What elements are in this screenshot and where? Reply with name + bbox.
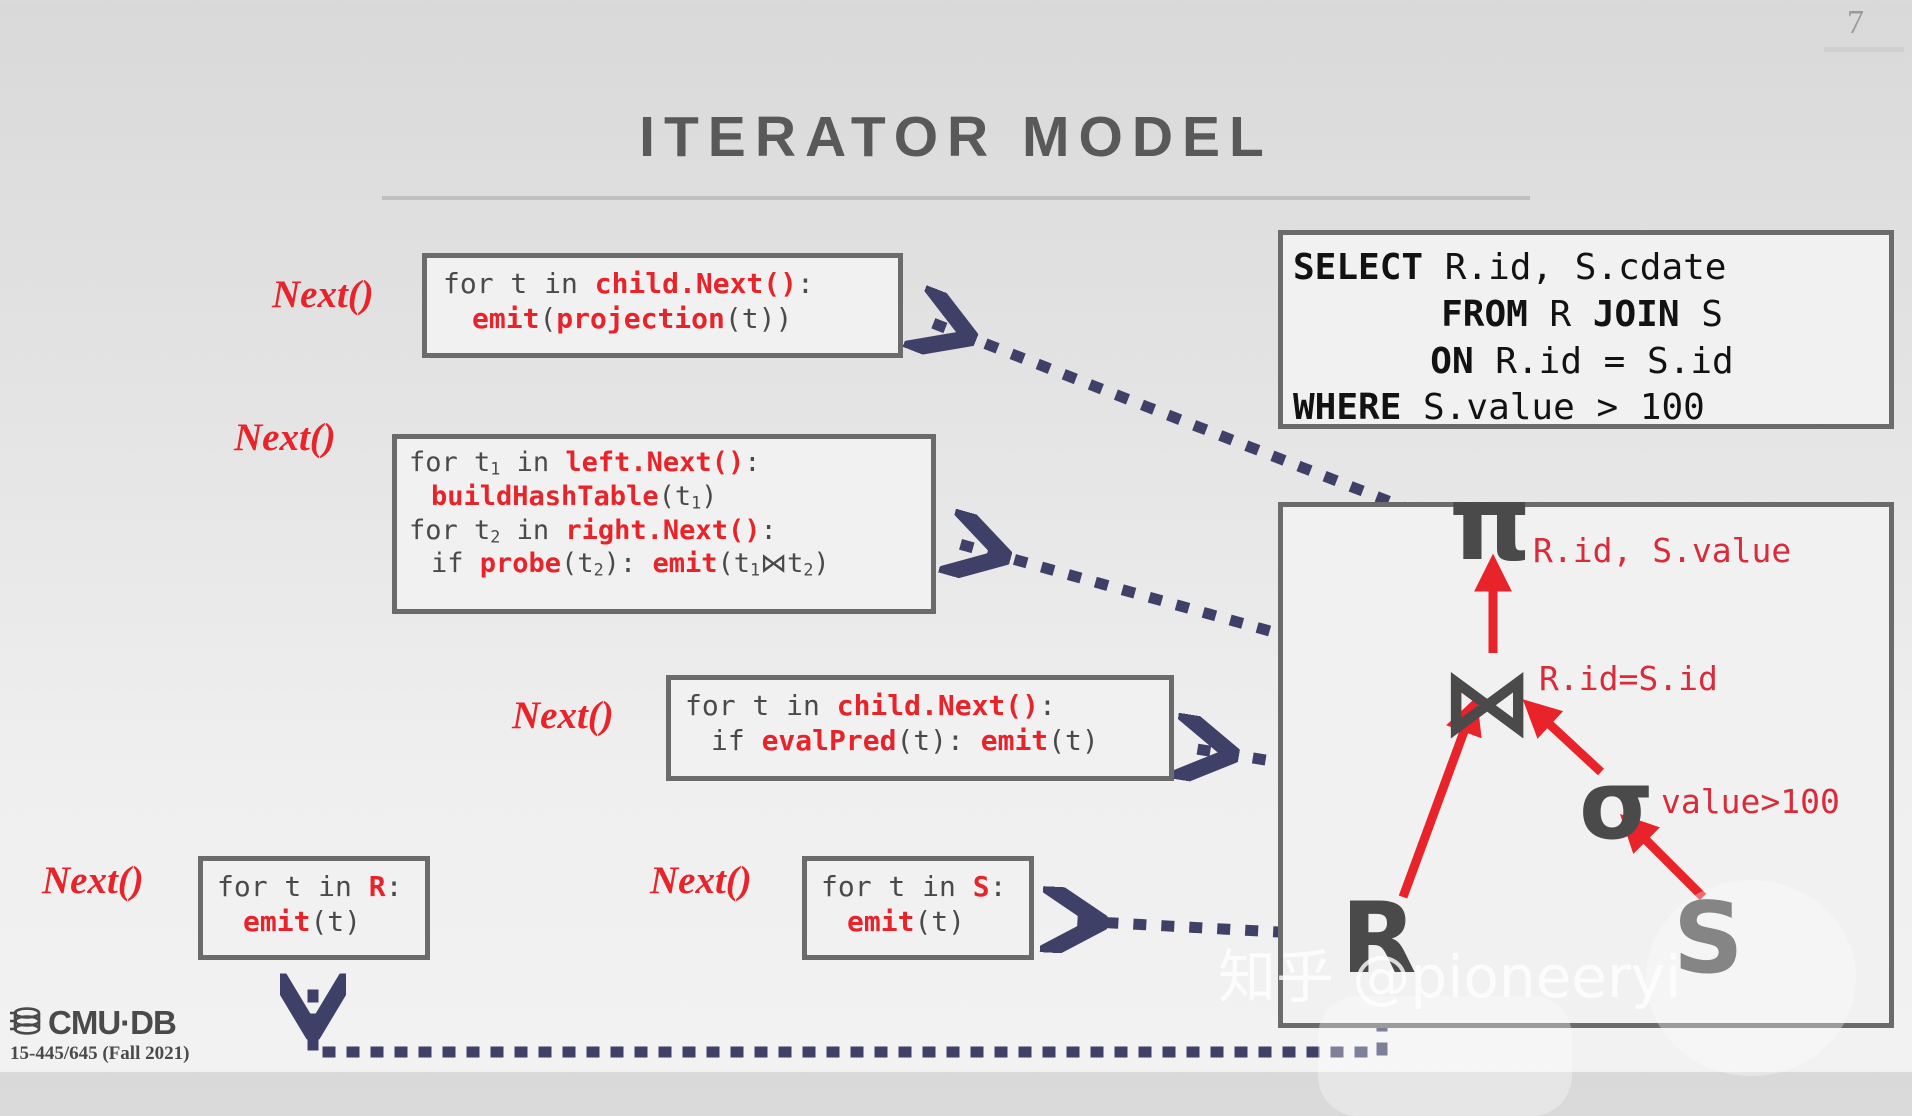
- code-line: for t2 in right.Next():: [409, 514, 921, 548]
- cmu-db-wordmark: CMU·DB: [48, 1006, 176, 1039]
- code-tail: (t): [914, 905, 965, 938]
- code-plain: if: [431, 548, 480, 579]
- code-call: R: [369, 870, 386, 903]
- sql-line-where: WHERE S.value > 100: [1293, 385, 1871, 432]
- page-number: 7: [1847, 4, 1864, 42]
- code-call: emit: [652, 548, 717, 579]
- sql-keyword: FROM: [1441, 294, 1528, 335]
- next-label-join: Next(): [234, 415, 336, 460]
- sql-keyword: JOIN: [1593, 294, 1680, 335]
- code-call: right.Next(): [565, 515, 760, 546]
- sql-rest: S.value > 100: [1401, 387, 1704, 428]
- code-line: for t in child.Next():: [443, 266, 888, 301]
- sql-rest: R.id = S.id: [1474, 341, 1734, 382]
- code-plain: in: [500, 447, 565, 478]
- code-call: child.Next(): [595, 267, 797, 300]
- code-call: emit: [981, 724, 1048, 757]
- code-tail: :: [797, 267, 814, 300]
- code-plain: for t in: [821, 870, 973, 903]
- code-box-scan-s: for t in S: emit(t): [802, 856, 1034, 960]
- sql-keyword: WHERE: [1293, 387, 1401, 428]
- slide-canvas: 7 ITERATOR MODEL Next() for t in child.N…: [0, 0, 1912, 1072]
- code-call: probe: [480, 548, 561, 579]
- plan-node-filter-icon: σ: [1579, 757, 1654, 853]
- code-call: emit: [243, 905, 310, 938]
- sql-rest: R: [1528, 294, 1593, 335]
- code-plain: (t):: [896, 724, 980, 757]
- code-call: emit: [847, 905, 914, 938]
- code-line: for t in R:: [217, 869, 415, 904]
- code-subscript: 1: [691, 492, 701, 512]
- code-box-projection: for t in child.Next(): emit(projection(t…: [422, 253, 903, 358]
- code-tail: :: [386, 870, 403, 903]
- next-label-projection: Next(): [272, 272, 374, 317]
- next-label-scan-s: Next(): [650, 858, 752, 903]
- code-line: emit(projection(t)): [443, 301, 888, 336]
- code-plain: ):: [604, 548, 653, 579]
- code-plain: for t: [409, 447, 490, 478]
- course-label: 15-445/645 (Fall 2021): [10, 1044, 189, 1063]
- sql-keyword: SELECT: [1293, 247, 1423, 288]
- code-plain: for t: [409, 515, 490, 546]
- code-tail: :: [744, 447, 760, 478]
- code-tail: ): [813, 548, 829, 579]
- database-icon: [10, 1007, 44, 1039]
- query-plan-box: π R.id, S.value ⋈ R.id=S.id σ value>100 …: [1278, 502, 1894, 1028]
- code-call: child.Next(): [837, 689, 1039, 722]
- code-line: for t in child.Next():: [685, 688, 1159, 723]
- code-call: evalPred: [762, 724, 897, 757]
- code-line: emit(t): [217, 904, 415, 939]
- code-line: if probe(t2): emit(t1⋈t2): [409, 547, 921, 581]
- cmu-db-logo: CMU·DB 15-445/645 (Fall 2021): [10, 1006, 189, 1063]
- plan-node-join-label: R.id=S.id: [1539, 662, 1718, 695]
- code-box-scan-r: for t in R: emit(t): [198, 856, 430, 960]
- code-subscript: 2: [803, 560, 813, 580]
- code-plain: if: [711, 724, 762, 757]
- code-plain: (t: [659, 481, 692, 512]
- code-line: emit(t): [821, 904, 1019, 939]
- page-title: ITERATOR MODEL: [0, 104, 1912, 170]
- code-line: for t in S:: [821, 869, 1019, 904]
- code-tail: :: [990, 870, 1007, 903]
- code-tail: :: [760, 515, 776, 546]
- plan-node-filter-label: value>100: [1661, 785, 1840, 818]
- sql-keyword: ON: [1430, 341, 1473, 382]
- code-line: if evalPred(t): emit(t): [685, 723, 1159, 758]
- sql-line-from: FROM R JOIN S: [1293, 292, 1871, 339]
- code-call: left.Next(): [565, 447, 744, 478]
- code-subscript: 1: [490, 459, 500, 479]
- code-line: buildHashTable(t1): [409, 480, 921, 514]
- code-tail: (t): [310, 905, 361, 938]
- code-plain: (t: [561, 548, 594, 579]
- plan-node-projection-label: R.id, S.value: [1533, 534, 1791, 567]
- code-tail: :: [1039, 689, 1056, 722]
- title-underline: [382, 196, 1530, 200]
- page-number-rule: [1824, 47, 1904, 52]
- code-call: projection: [556, 302, 725, 335]
- code-call: emit: [472, 302, 539, 335]
- code-box-hashjoin: for t1 in left.Next(): buildHashTable(t1…: [392, 434, 936, 614]
- next-label-filter: Next(): [512, 693, 614, 738]
- code-tail: (t)): [725, 302, 792, 335]
- code-box-filter: for t in child.Next(): if evalPred(t): e…: [666, 675, 1174, 781]
- code-subscript: 2: [594, 560, 604, 580]
- code-call: buildHashTable: [431, 481, 659, 512]
- sql-line-on: ON R.id = S.id: [1293, 339, 1871, 386]
- code-tail: ): [701, 481, 717, 512]
- code-subscript: 2: [490, 526, 500, 546]
- sql-rest: R.id, S.cdate: [1423, 247, 1726, 288]
- sql-rest: S: [1680, 294, 1723, 335]
- sql-query-box: SELECT R.id, S.cdate FROM R JOIN S ON R.…: [1278, 230, 1894, 429]
- code-plain: for t in: [685, 689, 837, 722]
- code-call: S: [973, 870, 990, 903]
- code-plain: (t: [717, 548, 750, 579]
- plan-node-scan-r-icon: R: [1341, 890, 1416, 988]
- connector-scan-r: [313, 990, 1382, 1052]
- code-plain: t: [787, 548, 803, 579]
- code-plain: for t in: [443, 267, 595, 300]
- next-label-scan-r: Next(): [42, 858, 144, 903]
- join-symbol: ⋈: [760, 548, 787, 579]
- sql-line-select: SELECT R.id, S.cdate: [1293, 245, 1871, 292]
- code-paren: (: [539, 302, 556, 335]
- code-subscript: 1: [750, 560, 760, 580]
- plan-node-scan-s-icon: S: [1673, 890, 1744, 988]
- code-plain: for t in: [217, 870, 369, 903]
- plan-node-join-icon: ⋈: [1441, 657, 1533, 749]
- plan-node-projection-icon: π: [1449, 471, 1531, 575]
- code-tail: (t): [1048, 724, 1099, 757]
- code-plain: in: [500, 515, 565, 546]
- code-line: for t1 in left.Next():: [409, 446, 921, 480]
